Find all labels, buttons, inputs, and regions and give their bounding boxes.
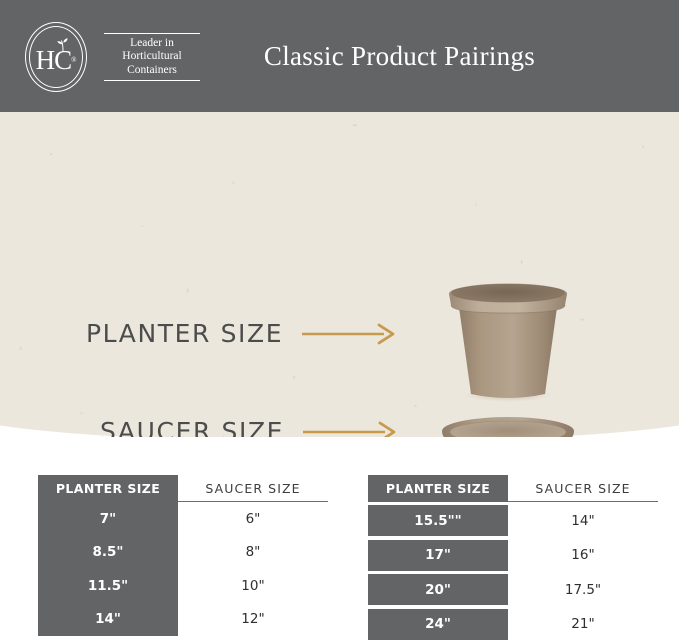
- cell-planter-size: 20": [368, 574, 508, 605]
- table-row: 14" 12": [38, 603, 328, 637]
- cell-planter-size: 11.5": [38, 569, 178, 603]
- table-row: 11.5" 10": [38, 569, 328, 603]
- table-row: 24" 21": [368, 609, 658, 640]
- cell-planter-size: 24": [368, 609, 508, 640]
- table-row: 20" 17.5": [368, 574, 658, 605]
- registered-mark: ®: [71, 56, 76, 64]
- size-tables: PLANTER SIZE SAUCER SIZE 7" 6" 8.5" 8" 1…: [0, 475, 679, 636]
- tagline-line-1: Leader in: [106, 37, 198, 51]
- cell-saucer-size: 14": [508, 505, 658, 536]
- callout-planter-size: PLANTER SIZE: [86, 319, 397, 348]
- cell-planter-size: 8.5": [38, 536, 178, 570]
- cell-planter-size: 15.5"": [368, 505, 508, 536]
- size-table-large: PLANTER SIZE SAUCER SIZE 15.5"" 14" 17" …: [368, 475, 658, 636]
- planter-product-image: [437, 280, 579, 402]
- page-header: HC® Leader in Horticultural Containers C…: [0, 0, 679, 112]
- table-header-row: PLANTER SIZE SAUCER SIZE: [38, 475, 328, 502]
- saucer-product-image: [436, 415, 580, 437]
- hero-section: PLANTER SIZE SAUCER SIZE: [0, 112, 679, 437]
- cell-saucer-size: 12": [178, 603, 328, 637]
- cell-saucer-size: 21": [508, 609, 658, 640]
- cell-planter-size: 7": [38, 502, 178, 536]
- callout-planter-label: PLANTER SIZE: [86, 319, 283, 348]
- column-header-saucer-size: SAUCER SIZE: [178, 475, 328, 502]
- column-header-saucer-size: SAUCER SIZE: [508, 475, 658, 502]
- cell-saucer-size: 10": [178, 569, 328, 603]
- callout-saucer-size: SAUCER SIZE: [100, 417, 398, 437]
- leaf-sprout-icon: [54, 38, 72, 52]
- column-header-planter-size: PLANTER SIZE: [38, 475, 178, 502]
- table-body: 15.5"" 14" 17" 16" 20" 17.5" 24" 21": [368, 502, 658, 636]
- logo-monogram: HC®: [24, 22, 88, 92]
- cell-saucer-size: 17.5": [508, 574, 658, 605]
- cell-saucer-size: 6": [178, 502, 328, 536]
- hc-logo-badge: HC®: [24, 22, 94, 92]
- arrow-right-icon: [302, 421, 398, 438]
- callout-saucer-label: SAUCER SIZE: [100, 417, 284, 437]
- column-header-planter-size: PLANTER SIZE: [368, 475, 508, 502]
- table-header-row: PLANTER SIZE SAUCER SIZE: [368, 475, 658, 502]
- arrow-right-icon: [301, 323, 397, 345]
- tagline-line-3: Containers: [106, 64, 198, 78]
- table-row: 17" 16": [368, 540, 658, 571]
- cell-planter-size: 17": [368, 540, 508, 571]
- table-row: 7" 6": [38, 502, 328, 536]
- brand-tagline: Leader in Horticultural Containers: [104, 33, 200, 82]
- cell-planter-size: 14": [38, 603, 178, 637]
- cell-saucer-size: 16": [508, 540, 658, 571]
- cell-saucer-size: 8": [178, 536, 328, 570]
- table-body: 7" 6" 8.5" 8" 11.5" 10" 14" 12": [38, 502, 328, 636]
- brand-logo: HC® Leader in Horticultural Containers: [24, 22, 200, 92]
- table-row: 15.5"" 14": [368, 505, 658, 536]
- tagline-line-2: Horticultural: [106, 50, 198, 64]
- table-row: 8.5" 8": [38, 536, 328, 570]
- size-table-small: PLANTER SIZE SAUCER SIZE 7" 6" 8.5" 8" 1…: [38, 475, 328, 636]
